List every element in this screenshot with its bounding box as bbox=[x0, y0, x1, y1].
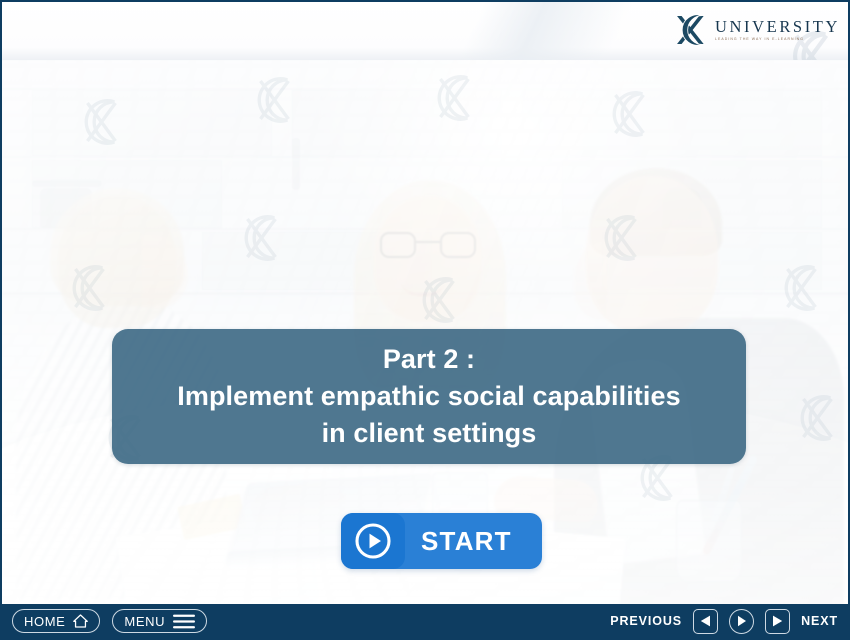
header-bar: UNIVERSITY LEADING THE WAY IN E-LEARNING bbox=[2, 2, 850, 60]
person-center-glasses-icon bbox=[380, 232, 476, 258]
logo-wordmark: UNIVERSITY bbox=[715, 19, 840, 36]
next-label[interactable]: NEXT bbox=[801, 614, 838, 628]
previous-button[interactable] bbox=[693, 609, 718, 634]
xuniversity-logo-mark-icon bbox=[674, 11, 712, 49]
start-button[interactable]: START bbox=[341, 513, 542, 569]
previous-label[interactable]: PREVIOUS bbox=[610, 614, 682, 628]
wall-panel bbox=[32, 90, 272, 156]
logo-text-block: UNIVERSITY LEADING THE WAY IN E-LEARNING bbox=[715, 19, 840, 42]
playback-navigation: PREVIOUS NEXT bbox=[610, 609, 838, 634]
hamburger-icon bbox=[173, 614, 195, 629]
next-button[interactable] bbox=[765, 609, 790, 634]
home-icon bbox=[73, 614, 88, 628]
slide-title-card: Part 2 : Implement empathic social capab… bbox=[112, 329, 746, 464]
course-slide-stage: UNIVERSITY LEADING THE WAY IN E-LEARNING bbox=[0, 0, 850, 640]
slide-title: Part 2 : Implement empathic social capab… bbox=[159, 341, 698, 451]
person-center-head bbox=[374, 196, 482, 322]
play-pause-button[interactable] bbox=[729, 609, 754, 634]
navigation-footer: HOME MENU PREVIOUS bbox=[2, 604, 850, 640]
counter-object bbox=[32, 180, 102, 187]
menu-button-label: MENU bbox=[124, 614, 165, 629]
triangle-left-icon bbox=[700, 615, 711, 627]
home-button-label: HOME bbox=[24, 614, 65, 629]
counter-object bbox=[292, 138, 300, 190]
home-button[interactable]: HOME bbox=[12, 609, 100, 633]
triangle-right-icon bbox=[772, 615, 783, 627]
play-circle-icon bbox=[341, 513, 405, 569]
logo-tagline: LEADING THE WAY IN E-LEARNING bbox=[715, 38, 843, 41]
brand-logo[interactable]: UNIVERSITY LEADING THE WAY IN E-LEARNING bbox=[674, 10, 840, 50]
play-circle-icon bbox=[736, 615, 747, 627]
start-button-label: START bbox=[421, 526, 512, 557]
menu-button[interactable]: MENU bbox=[112, 609, 207, 633]
slide-content-area: Part 2 : Implement empathic social capab… bbox=[2, 60, 850, 606]
